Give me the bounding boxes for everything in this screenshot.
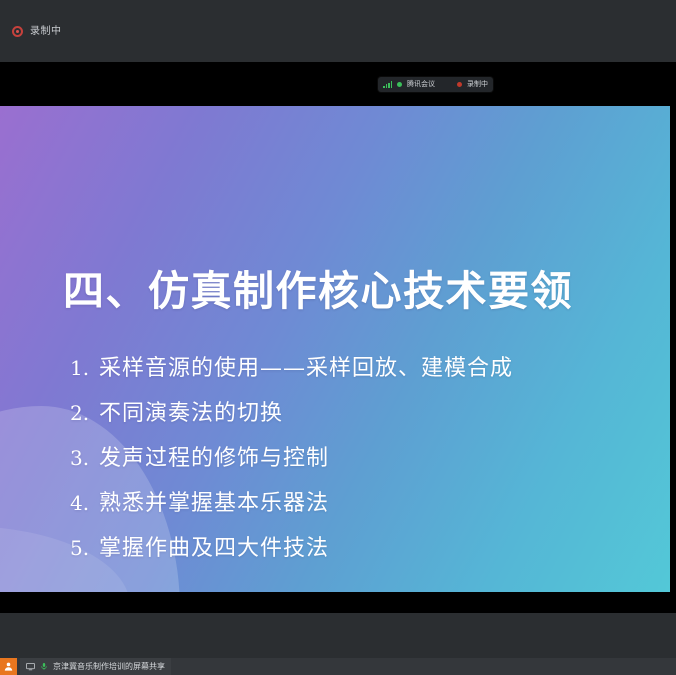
recording-status[interactable]: 录制中 bbox=[12, 26, 62, 37]
list-item-label: 掌握作曲及四大件技法 bbox=[99, 538, 329, 560]
list-item-label: 采样音源的使用——采样回放、建模合成 bbox=[99, 358, 513, 380]
slide-title: 四、仿真制作核心技术要领 bbox=[63, 269, 573, 314]
presentation-slide[interactable]: 四、仿真制作核心技术要领 1. 采样音源的使用——采样回放、建模合成 2. 不同… bbox=[0, 106, 670, 592]
microphone-icon bbox=[40, 662, 48, 671]
list-item: 2. 不同演奏法的切换 bbox=[70, 403, 630, 425]
record-dot-icon bbox=[12, 26, 23, 37]
list-item-number: 3. bbox=[70, 448, 92, 468]
meeting-floating-toolbar[interactable]: 腾讯会议 录制中 bbox=[378, 77, 493, 92]
meeting-app-name: 腾讯会议 bbox=[407, 81, 435, 88]
list-item-number: 4. bbox=[70, 493, 92, 513]
list-item-label: 不同演奏法的切换 bbox=[99, 403, 283, 425]
recording-status-label: 录制中 bbox=[30, 27, 62, 37]
record-dot-icon bbox=[457, 82, 462, 87]
screen-share-icon bbox=[26, 662, 35, 671]
list-item: 1. 采样音源的使用——采样回放、建模合成 bbox=[70, 358, 630, 380]
meeting-top-bar: 录制中 bbox=[0, 0, 676, 62]
desktop-bottom-area: 京津冀音乐制作培训的屏幕共享 bbox=[0, 613, 676, 675]
list-item: 3. 发声过程的修饰与控制 bbox=[70, 448, 630, 470]
list-item-label: 发声过程的修饰与控制 bbox=[99, 448, 329, 470]
list-item-label: 熟悉并掌握基本乐器法 bbox=[99, 493, 329, 515]
signal-bars-icon bbox=[383, 81, 392, 88]
taskbar-item-screen-share[interactable]: 京津冀音乐制作培训的屏幕共享 bbox=[20, 658, 171, 675]
list-item-number: 1. bbox=[70, 358, 92, 378]
taskbar-item-label: 京津冀音乐制作培训的屏幕共享 bbox=[53, 663, 165, 671]
list-item: 4. 熟悉并掌握基本乐器法 bbox=[70, 493, 630, 515]
slide-bullet-list: 1. 采样音源的使用——采样回放、建模合成 2. 不同演奏法的切换 3. 发声过… bbox=[70, 358, 630, 583]
list-item-number: 2. bbox=[70, 403, 92, 423]
toolbar-recording-label: 录制中 bbox=[467, 81, 488, 88]
taskbar[interactable]: 京津冀音乐制作培训的屏幕共享 bbox=[0, 658, 676, 675]
list-item-number: 5. bbox=[70, 538, 92, 558]
list-item: 5. 掌握作曲及四大件技法 bbox=[70, 538, 630, 560]
green-status-dot-icon bbox=[397, 82, 402, 87]
desktop-screen: 录制中 腾讯会议 录制中 四、仿真制作核心技术要领 1. 采样音源的使用——采样… bbox=[0, 0, 676, 675]
user-contact-icon[interactable] bbox=[0, 658, 17, 675]
